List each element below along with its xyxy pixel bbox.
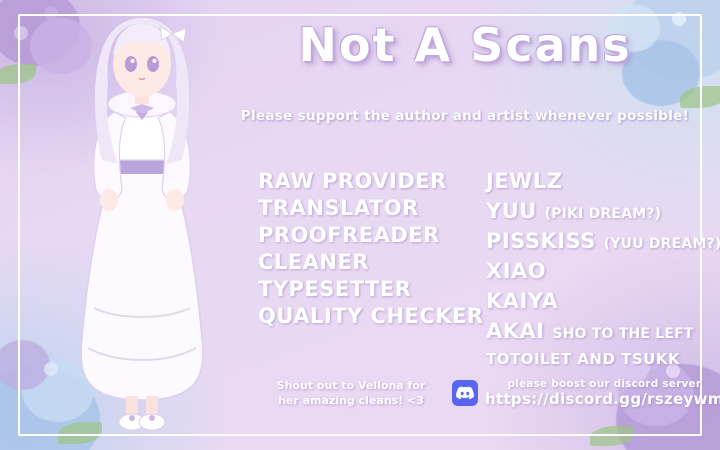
credit-name-main: XIAO [486,259,546,283]
credits-page: Not A Scans Please support the author an… [0,0,720,450]
credit-name-main: PISSKISS [486,229,596,253]
role-quality-checker: QUALITY CHECKER [258,303,463,330]
credits-roles-column: RAW PROVIDER TRANSLATOR PROOFREADER CLEA… [258,168,463,330]
role-raw-provider: RAW PROVIDER [258,168,463,195]
support-message: Please support the author and artist whe… [230,108,700,124]
credit-name-main: AKAI [486,319,545,343]
credit-name-main: JEWLZ [486,169,562,193]
discord-text-block: please boost our discord server https://… [485,378,720,408]
credit-name-main: KAIYA [486,289,558,313]
credits-names-column: JEWLZ YUU (PIKI DREAM?) PISSKISS (YUU DR… [486,168,711,373]
role-typesetter: TYPESETTER [258,276,463,303]
discord-section[interactable]: please boost our discord server https://… [452,378,708,408]
credit-name-quality-checker: AKAI SHO TO THE LEFT [486,318,711,348]
credit-name-main: YUU [486,199,537,223]
role-cleaner: CLEANER [258,249,463,276]
role-proofreader: PROOFREADER [258,222,463,249]
shoutout-line-2: her amazing cleans! <3 [258,393,444,408]
credit-name-note: (PIKI DREAM?) [545,206,662,222]
credit-name-cleaner: XIAO [486,258,711,288]
shoutout-line-1: Shout out to Vellona for [258,378,444,393]
credit-name-note: (YUU DREAM?) [604,236,720,252]
shoutout-note: Shout out to Vellona for her amazing cle… [258,378,444,408]
credit-name-note: SHO TO THE LEFT [552,326,693,342]
role-translator: TRANSLATOR [258,195,463,222]
page-title: Not A Scans [230,18,700,72]
credit-name-translator: YUU (PIKI DREAM?) [486,198,711,228]
credit-extra-names: TOTOILET AND TSUKK [486,346,711,373]
discord-icon [452,380,478,406]
credit-name-proofreader: PISSKISS (YUU DREAM?) [486,228,711,258]
credit-name-typesetter: KAIYA [486,288,711,318]
discord-invite-link[interactable]: https://discord.gg/rszeywm [485,391,720,408]
credit-name-raw-provider: JEWLZ [486,168,711,198]
character-illustration [52,8,232,438]
